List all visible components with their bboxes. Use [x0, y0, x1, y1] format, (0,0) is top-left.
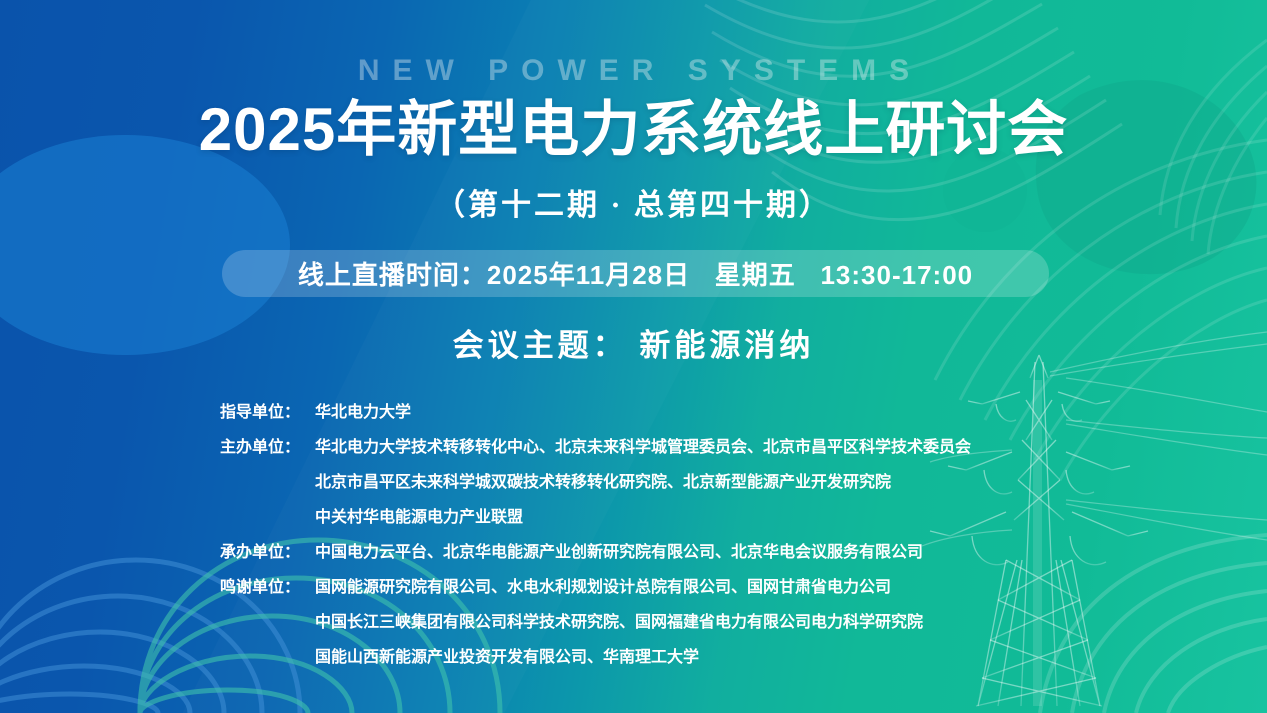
org-label: 承办单位：	[220, 538, 315, 562]
subtitle-session: （第十二期 · 总第四十期）	[0, 180, 1267, 224]
org-continuation-row: 国能山西新能源产业投资开发有限公司、华南理工大学	[220, 643, 1230, 678]
org-group-row: 鸣谢单位： 国网能源研究院有限公司、水电水利规划设计总院有限公司、国网甘肃省电力…	[220, 573, 1230, 608]
org-value: 中关村华电能源电力产业联盟	[315, 503, 523, 527]
org-continuation-row: 中关村华电能源电力产业联盟	[220, 503, 1230, 538]
organizations-list: 指导单位： 华北电力大学 主办单位： 华北电力大学技术转移转化中心、北京未来科学…	[220, 398, 1230, 678]
org-group-row: 主办单位： 华北电力大学技术转移转化中心、北京未来科学城管理委员会、北京市昌平区…	[220, 433, 1230, 468]
poster-root: NEW POWER SYSTEMS 2025年新型电力系统线上研讨会 （第十二期…	[0, 0, 1267, 713]
org-continuation-row: 北京市昌平区未来科学城双碳技术转移转化研究院、北京新型能源产业开发研究院	[220, 468, 1230, 503]
live-time-text: 线上直播时间：2025年11月28日 星期五 13:30-17:00	[298, 255, 973, 292]
org-label: 主办单位：	[220, 433, 315, 457]
org-group-row: 承办单位： 中国电力云平台、北京华电能源产业创新研究院有限公司、北京华电会议服务…	[220, 538, 1230, 573]
org-label: 鸣谢单位：	[220, 573, 315, 597]
page-title: 2025年新型电力系统线上研讨会	[0, 93, 1267, 167]
live-time-banner: 线上直播时间：2025年11月28日 星期五 13:30-17:00	[222, 250, 1049, 297]
org-value: 华北电力大学	[315, 398, 411, 422]
org-value: 中国电力云平台、北京华电能源产业创新研究院有限公司、北京华电会议服务有限公司	[315, 538, 923, 562]
org-value: 中国长江三峡集团有限公司科学技术研究院、国网福建省电力有限公司电力科学研究院	[315, 608, 923, 632]
kicker-text: NEW POWER SYSTEMS	[0, 54, 1267, 88]
org-value: 华北电力大学技术转移转化中心、北京未来科学城管理委员会、北京市昌平区科学技术委员…	[315, 433, 971, 457]
org-value: 国能山西新能源产业投资开发有限公司、华南理工大学	[315, 643, 699, 667]
org-continuation-row: 中国长江三峡集团有限公司科学技术研究院、国网福建省电力有限公司电力科学研究院	[220, 608, 1230, 643]
poster-content: NEW POWER SYSTEMS 2025年新型电力系统线上研讨会 （第十二期…	[0, 0, 1267, 713]
org-group-row: 指导单位： 华北电力大学	[220, 398, 1230, 433]
conference-theme: 会议主题： 新能源消纳	[0, 320, 1267, 365]
org-value: 北京市昌平区未来科学城双碳技术转移转化研究院、北京新型能源产业开发研究院	[315, 468, 891, 492]
org-label: 指导单位：	[220, 398, 315, 422]
org-value: 国网能源研究院有限公司、水电水利规划设计总院有限公司、国网甘肃省电力公司	[315, 573, 891, 597]
